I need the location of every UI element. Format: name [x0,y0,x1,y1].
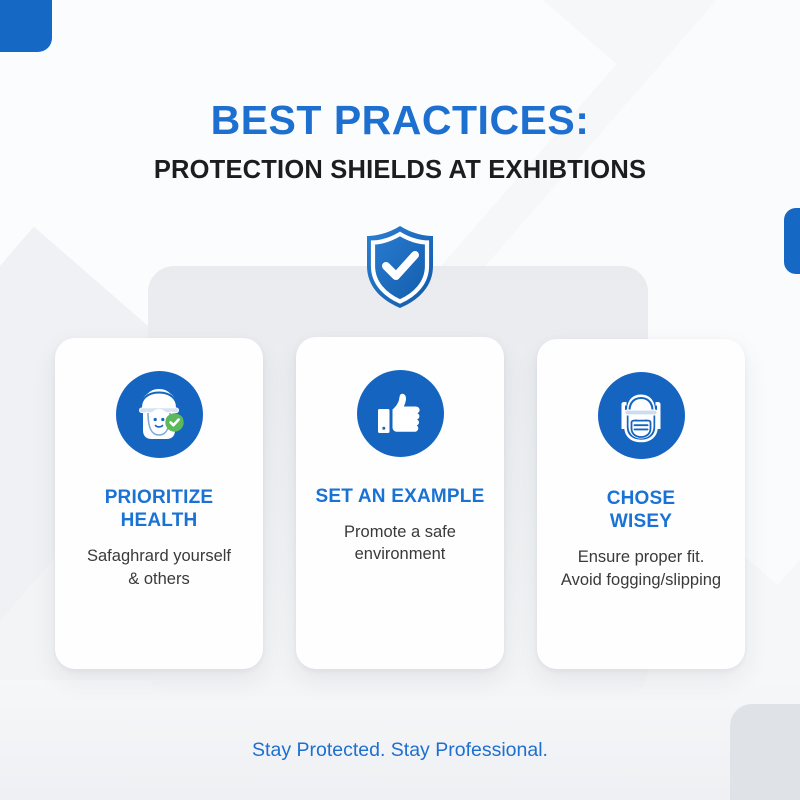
card-title-line2: WISEY [610,511,672,532]
person-face-shield-heart-icon [116,371,203,458]
card-desc-line1: Promote a safe [344,523,456,541]
card-title-line1: PRIORITIZE [105,487,214,508]
card-desc-line2: environment [355,545,446,563]
thumbs-up-icon [357,370,444,457]
header: BEST PRACTICES: PROTECTION SHIELDS AT EX… [0,0,800,184]
infographic-poster: BEST PRACTICES: PROTECTION SHIELDS AT EX… [0,0,800,800]
card-prioritize-health[interactable]: PRIORITIZE HEALTH Safaghrard yourself & … [55,338,263,669]
cards-row: PRIORITIZE HEALTH Safaghrard yourself & … [0,337,800,669]
card-desc-line2: Avoid fogging/slipping [561,571,721,589]
card-title: CHOSE WISEY [551,487,731,533]
card-title-line1: SET AN EXAMPLE [316,486,485,507]
card-desc-line1: Safaghrard yourself [87,547,231,565]
face-shield-mask-icon [598,372,685,459]
card-title: SET AN EXAMPLE [310,485,490,508]
page-subtitle: PROTECTION SHIELDS AT EXHIBTIONS [0,156,800,184]
card-set-an-example[interactable]: SET AN EXAMPLE Promote a safe environmen… [296,337,504,669]
card-desc-line2: & others [128,570,189,588]
card-title-line2: HEALTH [121,510,198,531]
card-chose-wisey[interactable]: CHOSE WISEY Ensure proper fit. Avoid fog… [537,339,745,669]
card-description: Promote a safe environment [310,521,490,566]
card-title: PRIORITIZE HEALTH [69,486,249,532]
card-description: Safaghrard yourself & others [69,545,249,590]
card-description: Ensure proper fit. Avoid fogging/slippin… [551,546,731,591]
shield-check-icon [363,224,437,310]
card-desc-line1: Ensure proper fit. [578,548,705,566]
card-title-line1: CHOSE [607,488,676,509]
footer-tagline: Stay Protected. Stay Professional. [0,739,800,762]
corner-accent-right [784,208,800,274]
page-title: BEST PRACTICES: [0,98,800,142]
